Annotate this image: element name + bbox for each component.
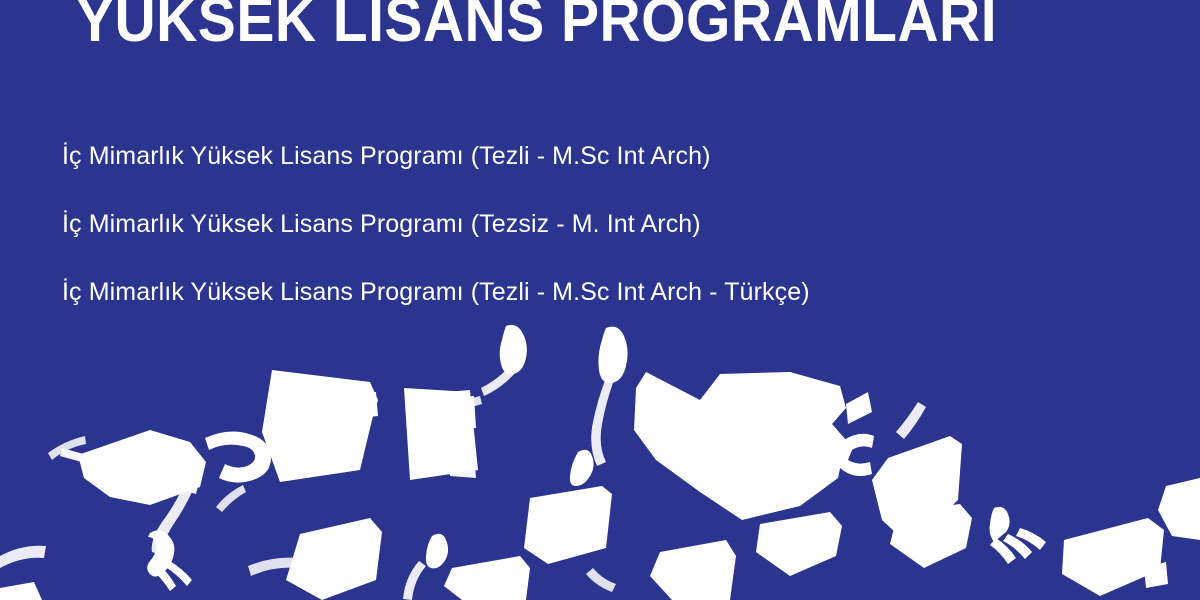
list-item: İç Mimarlık Yüksek Lisans Programı (Tezs… — [62, 190, 810, 258]
list-item: İç Mimarlık Yüksek Lisans Programı (Tezl… — [62, 258, 810, 326]
slide-text-layer: YÜKSEK LİSANS PROGRAMLARI İç Mimarlık Yü… — [0, 0, 1200, 600]
presentation-slide: YÜKSEK LİSANS PROGRAMLARI İç Mimarlık Yü… — [0, 0, 1200, 600]
list-item: İç Mimarlık Yüksek Lisans Programı (Tezl… — [62, 122, 810, 190]
program-list: İç Mimarlık Yüksek Lisans Programı (Tezl… — [62, 122, 810, 326]
page-title: YÜKSEK LİSANS PROGRAMLARI — [76, 0, 997, 59]
